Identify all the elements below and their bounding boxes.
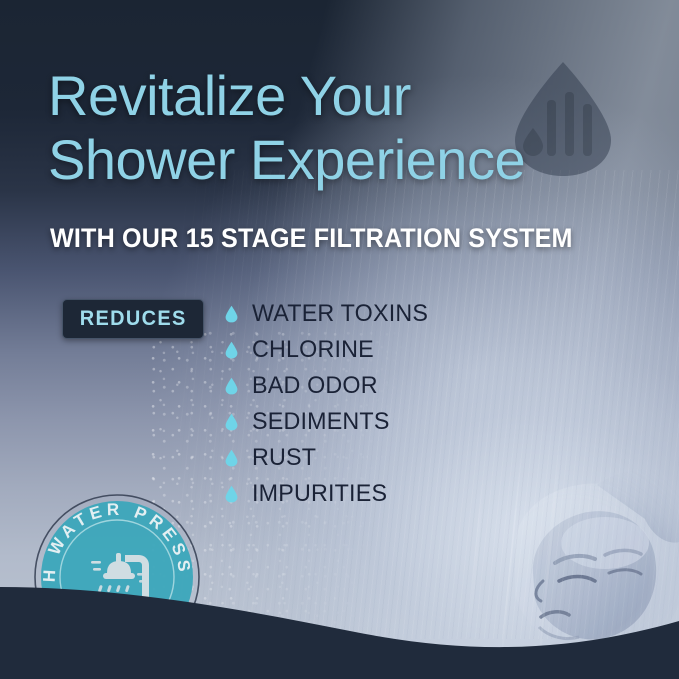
water-drop-bullet-icon <box>225 305 238 323</box>
reduces-badge: REDUCES <box>62 299 204 339</box>
list-item-label: CHLORINE <box>252 336 374 364</box>
shower-filter-promo-poster: Revitalize Your Shower Experience WITH O… <box>0 0 679 679</box>
page-title: Revitalize Your Shower Experience <box>48 64 648 192</box>
list-item-label: SEDIMENTS <box>252 408 390 436</box>
reduces-list: WATER TOXINS CHLORINE BAD ODOR SEDIMENTS <box>225 296 555 512</box>
water-drop-bullet-icon <box>225 341 238 359</box>
bottom-wave-shape <box>0 569 679 679</box>
water-drop-bullet-icon <box>225 449 238 467</box>
list-item: WATER TOXINS <box>225 296 555 332</box>
reduces-badge-label: REDUCES <box>80 307 187 331</box>
water-drop-bullet-icon <box>225 485 238 503</box>
water-drop-bullet-icon <box>225 413 238 431</box>
list-item: SEDIMENTS <box>225 404 555 440</box>
list-item-label: RUST <box>252 444 316 472</box>
water-drop-bullet-icon <box>225 377 238 395</box>
list-item-label: IMPURITIES <box>252 480 387 508</box>
list-item: BAD ODOR <box>225 368 555 404</box>
list-item: IMPURITIES <box>225 476 555 512</box>
list-item: CHLORINE <box>225 332 555 368</box>
list-item: RUST <box>225 440 555 476</box>
page-subtitle: WITH OUR 15 STAGE FILTRATION SYSTEM <box>50 223 573 254</box>
list-item-label: BAD ODOR <box>252 372 378 400</box>
list-item-label: WATER TOXINS <box>252 300 428 328</box>
